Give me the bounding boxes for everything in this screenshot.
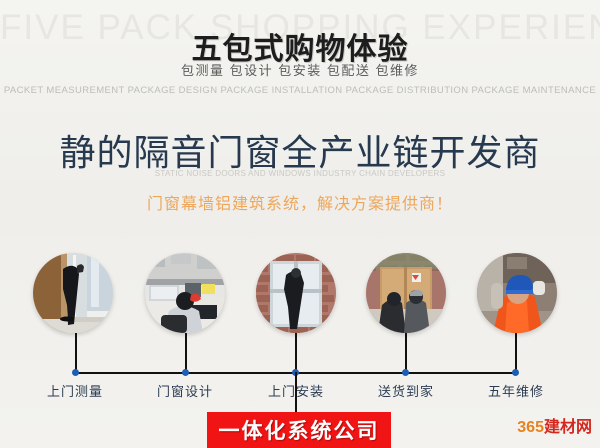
step-photo-window-design [145,253,225,333]
step-label-4: 送货到家 [364,381,448,400]
step-stem-3 [295,333,297,372]
badge-connector-stem [295,372,297,414]
on-site-measurement-photo [33,253,113,333]
step-photo-on-site-measurement [33,253,113,333]
step-photo-five-year-maintenance [477,253,557,333]
company-badge-label: 一体化系统公司 [219,415,380,445]
step-label-1: 上门测量 [33,381,117,400]
step-stem-2 [185,333,187,372]
step-photo-on-site-installation [256,253,336,333]
step-dot-5 [512,369,519,376]
step-stem-5 [515,333,517,372]
step-stem-4 [405,333,407,372]
step-photo-home-delivery [366,253,446,333]
watermark-text: 建材网 [544,419,592,436]
step-dot-2 [182,369,189,376]
window-design-office-photo [145,253,225,333]
site-watermark: 365建材网 [517,413,592,437]
step-stem-1 [75,333,77,372]
step-label-2: 门窗设计 [143,381,227,400]
process-steps: 上门测量 [0,0,600,448]
step-dot-1 [72,369,79,376]
promo-banner: FIVE PACK SHOPPING EXPERIENCE 五包式购物体验 包测… [0,0,600,448]
five-year-maintenance-photo [477,253,557,333]
home-delivery-photo [366,253,446,333]
watermark-number: 365 [517,419,544,436]
company-badge: 一体化系统公司 [207,412,391,448]
step-dot-4 [402,369,409,376]
step-label-5: 五年维修 [474,381,558,400]
on-site-installation-photo [256,253,336,333]
